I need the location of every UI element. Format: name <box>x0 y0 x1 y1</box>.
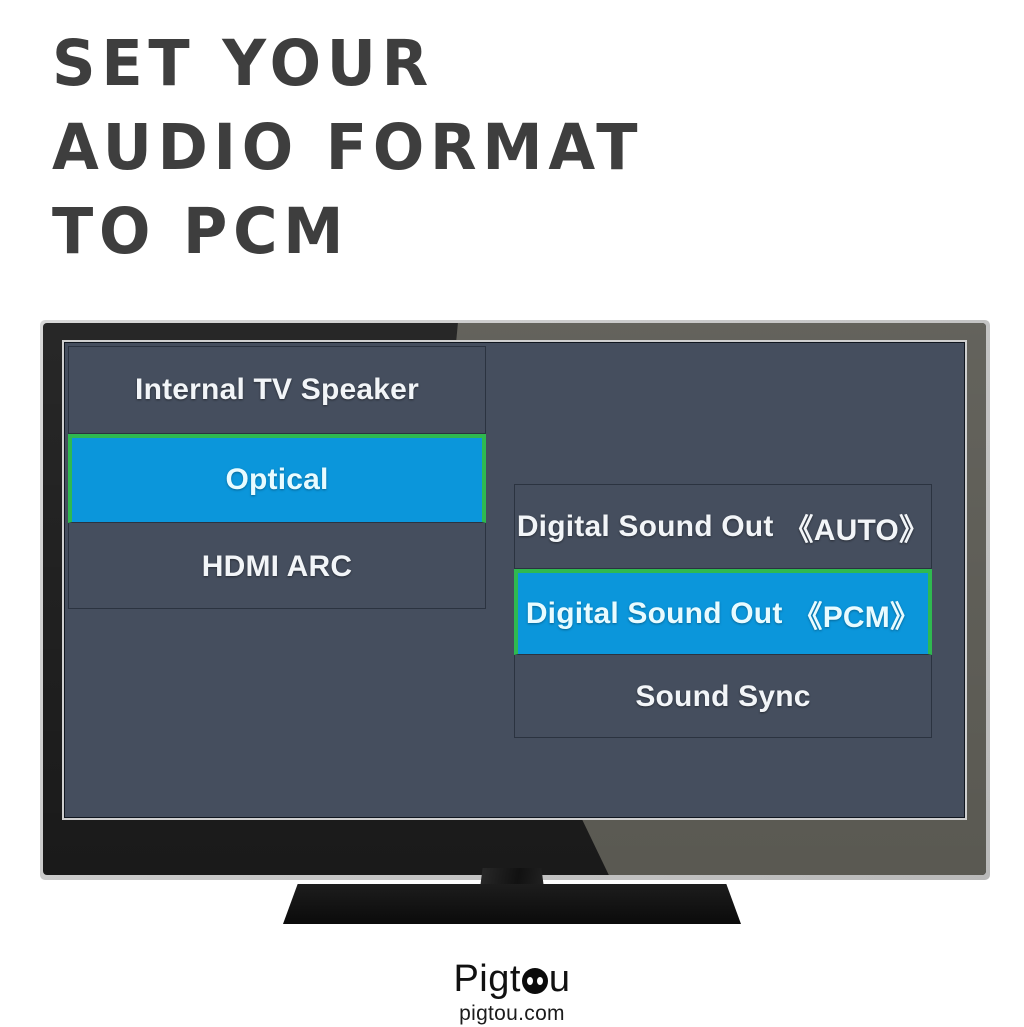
menu-item-value: 《PCM》 <box>793 592 921 636</box>
page-title: SET YOUR AUDIO FORMAT TO PCM <box>52 22 852 274</box>
menu-item-internal-tv-speaker[interactable]: Internal TV Speaker <box>69 347 485 434</box>
menu-item-digital-sound-out-pcm[interactable]: Digital Sound Out 《PCM》 <box>514 569 932 655</box>
menu-item-hdmi-arc[interactable]: HDMI ARC <box>69 523 485 610</box>
pig-snout-nostril-left <box>527 977 533 985</box>
menu-item-label: Optical <box>225 463 328 497</box>
menu-item-label: HDMI ARC <box>202 550 352 584</box>
page-title-line-1: SET YOUR <box>52 22 820 106</box>
pig-snout-nostril-right <box>537 977 543 985</box>
brand-wordmark-suffix: u <box>549 958 571 1000</box>
menu-item-sound-sync[interactable]: Sound Sync <box>515 655 931 739</box>
pig-snout-icon <box>522 968 548 994</box>
digital-sound-out-menu[interactable]: Digital Sound Out 《AUTO》 Digital Sound O… <box>514 484 932 738</box>
sound-output-menu[interactable]: Internal TV Speaker Optical HDMI ARC <box>68 346 486 609</box>
tv-screen: Internal TV Speaker Optical HDMI ARC Dig… <box>64 342 965 818</box>
menu-item-label: Sound Sync <box>635 680 810 714</box>
brand-wordmark-prefix: Pigt <box>453 958 520 1000</box>
tv-screen-frame: Internal TV Speaker Optical HDMI ARC Dig… <box>62 340 967 820</box>
tv-stand-base <box>283 884 741 924</box>
page-title-line-3: TO PCM <box>52 190 820 274</box>
brand-wordmark: Pigt u <box>453 958 570 1000</box>
brand-url: pigtou.com <box>0 1001 1024 1027</box>
page-title-line-2: AUDIO FORMAT <box>52 106 820 190</box>
menu-item-value: 《AUTO》 <box>784 505 930 549</box>
menu-item-label: Internal TV Speaker <box>135 373 419 407</box>
menu-item-optical[interactable]: Optical <box>68 434 486 523</box>
brand-logo[interactable]: Pigt u pigtou.com <box>0 958 1024 1027</box>
menu-item-label: Digital Sound Out <box>526 597 783 631</box>
menu-item-digital-sound-out-auto[interactable]: Digital Sound Out 《AUTO》 <box>515 485 931 569</box>
menu-item-label: Digital Sound Out <box>517 510 774 544</box>
tv-illustration: Internal TV Speaker Optical HDMI ARC Dig… <box>40 320 990 880</box>
